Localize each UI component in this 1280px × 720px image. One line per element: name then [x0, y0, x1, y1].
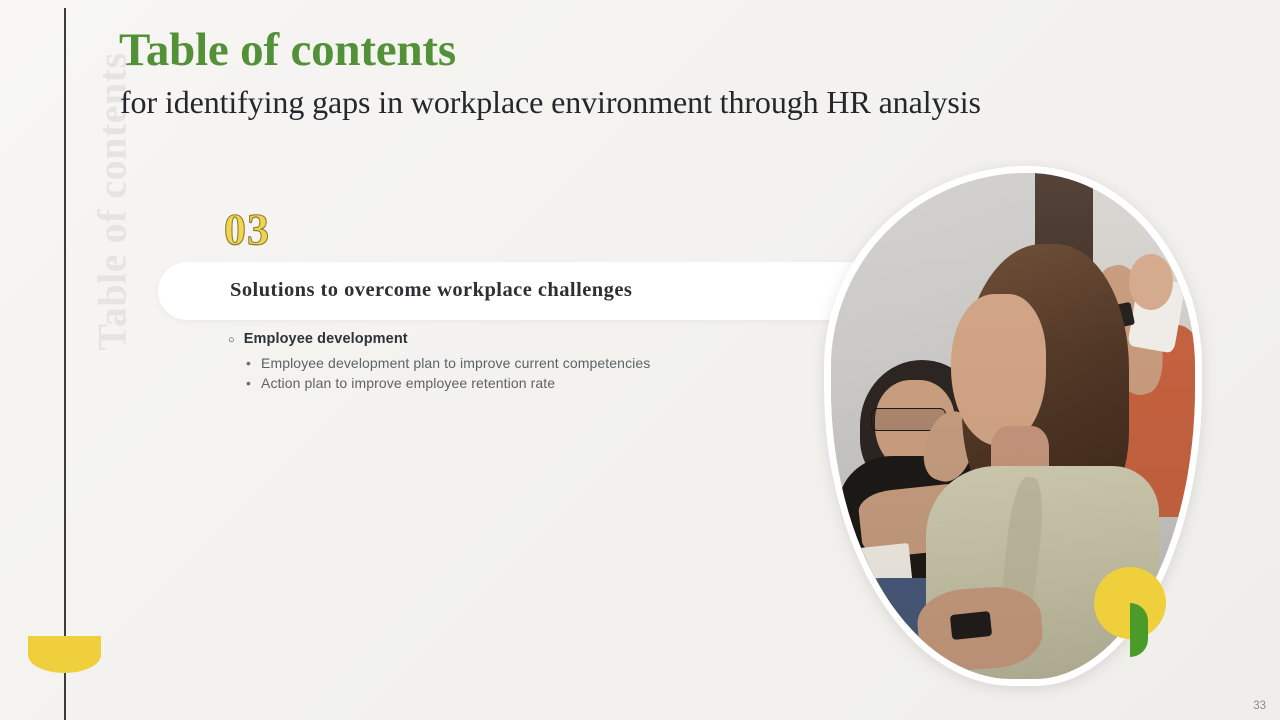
- list-item[interactable]: • Employee development plan to improve c…: [246, 354, 788, 374]
- sub-list: • Employee development plan to improve c…: [228, 354, 788, 393]
- slide-canvas: Table of contents Table of contents for …: [0, 0, 1280, 720]
- section-number: 03: [224, 208, 270, 252]
- list-item-label: Employee development plan to improve cur…: [261, 354, 650, 374]
- list-item[interactable]: • Action plan to improve employee retent…: [246, 374, 788, 394]
- section-heading-label: Solutions to overcome workplace challeng…: [230, 279, 632, 302]
- section-bullet-list: ○ Employee development • Employee develo…: [228, 331, 788, 393]
- yellow-half-disc-decor: [28, 636, 101, 673]
- hollow-circle-bullet-icon: ○: [228, 335, 235, 346]
- list-item-label: Employee development: [244, 331, 408, 347]
- page-title: Table of contents: [119, 24, 456, 77]
- left-rail-divider: [64, 8, 66, 720]
- list-item[interactable]: ○ Employee development: [228, 331, 788, 347]
- list-item-label: Action plan to improve employee retentio…: [261, 374, 555, 394]
- page-subtitle: for identifying gaps in workplace enviro…: [120, 82, 981, 122]
- page-number: 33: [1253, 700, 1266, 712]
- dot-bullet-icon: •: [246, 356, 251, 370]
- dot-bullet-icon: •: [246, 376, 251, 390]
